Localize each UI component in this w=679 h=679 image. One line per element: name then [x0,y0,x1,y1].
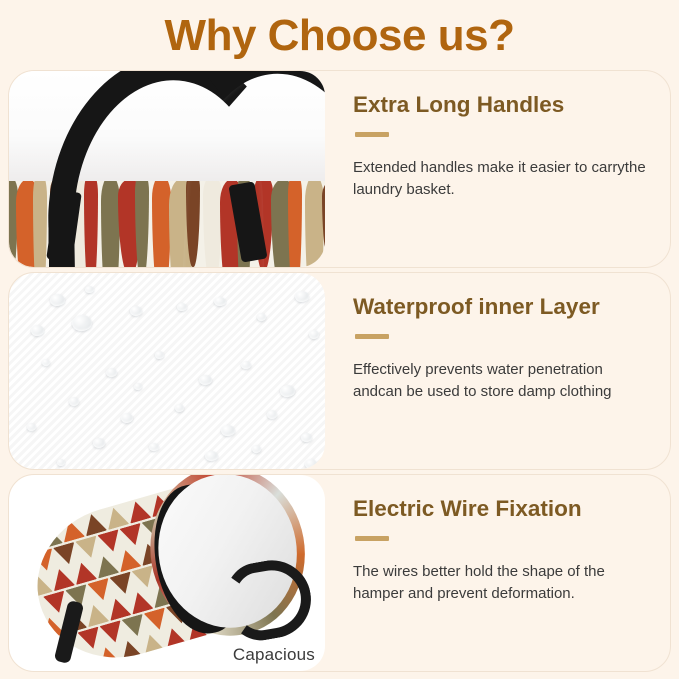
water-droplet [155,351,164,359]
water-droplet [257,313,266,321]
hamper-pattern-triangle [161,625,188,650]
water-droplet [199,375,212,385]
hamper-pattern-triangle [125,498,152,523]
feature-copy-2: Waterproof inner Layer Effectively preve… [325,273,670,469]
water-droplet [177,303,187,311]
basket-pattern-drop [33,181,47,267]
hamper-pattern-triangle [109,572,136,597]
feature-heading-3: Electric Wire Fixation [353,497,652,522]
water-droplet [93,438,105,448]
hamper-pattern-triangle [81,511,108,536]
feature-heading-2: Waterproof inner Layer [353,295,652,320]
accent-divider-2 [355,334,389,339]
feature-image-electric-wire-fixation: Capacious [9,475,325,671]
water-droplet [57,459,65,466]
water-droplet [72,315,92,331]
hamper-pattern-triangle [93,553,120,578]
hamper-pattern-triangle [103,505,130,530]
water-droplet [280,385,295,397]
hamper-pattern-triangle [75,536,102,561]
feature-body-3: The wires better hold the shape of the h… [353,561,652,606]
water-droplet [305,459,317,469]
hamper-pattern-triangle [73,651,100,671]
hamper-pattern-triangle [121,614,148,639]
accent-divider-3 [355,536,389,541]
water-droplet [267,410,277,419]
hamper-pattern-triangle [53,542,80,567]
water-droplet [27,423,36,431]
feature-copy-3: Electric Wire Fixation The wires better … [325,475,670,671]
hamper-pattern-triangle [36,524,63,549]
hamper-pattern-triangle [97,529,124,554]
hamper-pattern-triangle [117,638,144,663]
hamper-pattern-triangle [58,517,85,542]
hamper-pattern-triangle [87,578,114,603]
water-droplet [221,425,235,436]
water-droplet [309,330,319,339]
hamper-pattern-triangle [49,566,76,591]
feature-copy-1: Extra Long Handles Extended handles make… [325,71,670,267]
page-title: Why Choose us? [165,10,515,58]
water-droplet [205,451,218,461]
hamper-pattern-triangle [105,596,132,621]
water-droplet [85,286,94,293]
hamper-pattern-triangle [127,589,154,614]
feature-card-2: Waterproof inner Layer Effectively preve… [8,272,671,470]
hamper-pattern-triangle [77,626,104,651]
hamper-pattern-triangle [31,548,58,573]
feature-image-extra-long-handles [9,71,325,267]
feature-card-3: Capacious Electric Wire Fixation The wir… [8,474,671,672]
feature-body-1: Extended handles make it easier to carry… [353,157,652,202]
water-droplet [121,413,133,423]
feature-image-waterproof-layer [9,273,325,469]
hamper-pattern-triangle [71,560,98,585]
water-droplet [175,404,184,412]
water-droplet [50,294,65,306]
hamper-pattern-triangle [119,523,146,548]
hamper-pattern-triangle [99,620,126,645]
water-droplet [252,445,261,453]
water-droplet [214,297,226,306]
water-droplet [106,368,117,377]
infographic-page: Why Choose us? Extra Long Handles Extend… [0,0,679,679]
hamper-pattern-triangle [95,644,122,669]
accent-divider-1 [355,132,389,137]
hamper-pattern-triangle [19,530,40,555]
header-bar: Why Choose us? [0,0,679,68]
hamper-pattern-triangle [139,632,166,657]
capacious-label: Capacious [233,645,315,665]
water-droplet [295,291,309,302]
water-droplet [134,383,142,390]
hamper-pattern-triangle [26,572,53,597]
water-droplet [301,433,312,442]
hamper-pattern-triangle [144,607,171,632]
hamper-pattern-triangle [83,602,110,627]
water-droplet [69,397,79,406]
feature-body-2: Effectively prevents water penetration a… [353,359,652,404]
water-droplet [42,359,50,366]
feature-heading-1: Extra Long Handles [353,93,652,118]
water-droplet [241,361,251,369]
feature-card-1: Extra Long Handles Extended handles make… [8,70,671,268]
hamper-pattern-triangle [115,547,142,572]
water-droplet [130,306,142,316]
water-droplet [149,443,159,451]
water-droplet [31,325,44,336]
